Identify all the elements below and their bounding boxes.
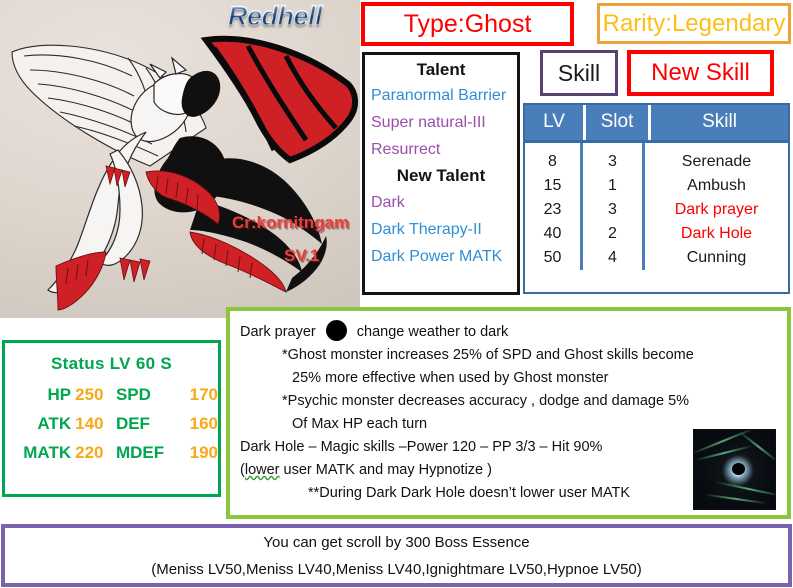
skill-header-label: Skill [558, 60, 600, 87]
skill-table: LV Slot Skill 8 15 23 40 50 3 1 3 2 4 Se… [523, 103, 790, 294]
cell-skill: Cunning [645, 246, 788, 270]
status-value-hp: 250 [75, 380, 116, 409]
status-value-def: 160 [174, 409, 218, 438]
talent-item-dark-power-matk: Dark Power MATK [371, 244, 517, 269]
type-badge-label: Type:Ghost [404, 10, 532, 39]
dark-prayer-bullet-1b: 25% more effective when used by Ghost mo… [240, 367, 779, 390]
paren-word-lower: lower [245, 462, 280, 478]
status-panel: Status LV 60 S HP 250 SPD 170 ATK 140 DE… [2, 340, 221, 497]
cell-lv: 40 [525, 222, 580, 246]
status-label-spd: SPD [116, 380, 174, 409]
new-skill-header-badge: New Skill [627, 50, 774, 96]
column-header-slot: Slot [586, 105, 651, 140]
cell-skill: Serenade [645, 150, 788, 174]
cell-slot: 4 [583, 246, 642, 270]
talent-item-paranormal-barrier: Paranormal Barrier [371, 83, 517, 108]
dark-prayer-line: Dark prayerchange weather to dark [240, 320, 779, 344]
status-value-atk: 140 [75, 409, 116, 438]
monster-artwork: Redhell Cr:kornitngam SV.1 [0, 0, 360, 318]
skill-table-header-row: LV Slot Skill [525, 105, 788, 140]
skill-table-col-skill: Serenade Ambush Dark prayer Dark Hole Cu… [645, 143, 788, 270]
skill-table-col-lv: 8 15 23 40 50 [525, 143, 583, 270]
dark-prayer-bullet-2: *Psychic monster decreases accuracy , do… [240, 390, 779, 413]
cell-lv: 8 [525, 150, 580, 174]
acquisition-note-panel: You can get scroll by 300 Boss Essence (… [1, 524, 792, 587]
cell-lv: 23 [525, 198, 580, 222]
skill-header-badge: Skill [540, 50, 618, 96]
status-value-spd: 170 [174, 380, 218, 409]
note-line-1: You can get scroll by 300 Boss Essence [263, 529, 529, 556]
dark-prayer-bullet-1: *Ghost monster increases 25% of SPD and … [240, 344, 779, 367]
cell-slot: 2 [583, 222, 642, 246]
dark-hole-image [693, 429, 776, 510]
note-line-2: (Meniss LV50,Meniss LV40,Meniss LV40,Ign… [151, 556, 642, 583]
status-row: ATK 140 DEF 160 [5, 409, 218, 438]
monster-info-card: Redhell Cr:kornitngam SV.1 Type:Ghost Ra… [0, 0, 793, 588]
dark-prayer-effect: change weather to dark [357, 324, 509, 340]
column-header-skill: Skill [651, 105, 788, 140]
status-label-atk: ATK [5, 409, 75, 438]
status-row: HP 250 SPD 170 [5, 380, 218, 409]
talent-item-dark-therapy: Dark Therapy-II [371, 217, 517, 242]
skill-table-col-slot: 3 1 3 2 4 [583, 143, 645, 270]
rarity-badge: Rarity:Legendary [597, 3, 791, 44]
artist-credit: Cr:kornitngam [232, 213, 349, 233]
talent-heading: Talent [365, 60, 517, 80]
cell-skill: Dark Hole [645, 222, 788, 246]
talent-item-super-natural: Super natural-III [371, 110, 517, 135]
cell-skill: Dark prayer [645, 198, 788, 222]
status-label-def: DEF [116, 409, 174, 438]
status-label-mdef: MDEF [116, 438, 174, 467]
status-row: MATK 220 MDEF 190 [5, 438, 218, 467]
cell-skill: Ambush [645, 174, 788, 198]
paren-rest: user MATK and may Hypnotize ) [280, 462, 492, 478]
dragon-drawing [0, 0, 360, 318]
status-title: Status LV 60 S [5, 354, 218, 374]
rarity-badge-label: Rarity:Legendary [603, 10, 786, 38]
dark-prayer-name: Dark prayer [240, 324, 316, 340]
new-skill-header-label: New Skill [651, 59, 750, 87]
cell-slot: 1 [583, 174, 642, 198]
column-header-lv: LV [525, 105, 586, 140]
status-label-hp: HP [5, 380, 75, 409]
status-value-matk: 220 [75, 438, 116, 467]
cell-slot: 3 [583, 198, 642, 222]
talent-panel: Talent Paranormal Barrier Super natural-… [362, 52, 520, 295]
new-talent-heading: New Talent [365, 164, 517, 188]
cell-lv: 15 [525, 174, 580, 198]
status-label-matk: MATK [5, 438, 75, 467]
cell-slot: 3 [583, 150, 642, 174]
type-badge: Type:Ghost [361, 2, 574, 46]
talent-item-resurrect: Resurrect [371, 137, 517, 162]
monster-name-title: Redhell [228, 1, 322, 32]
version-label: SV.1 [284, 246, 319, 266]
skill-table-body: 8 15 23 40 50 3 1 3 2 4 Serenade Ambush … [525, 140, 788, 270]
cell-lv: 50 [525, 246, 580, 270]
black-circle-icon [326, 320, 347, 341]
talent-item-dark: Dark [371, 190, 517, 215]
skill-description-panel: Dark prayerchange weather to dark *Ghost… [226, 307, 791, 519]
status-value-mdef: 190 [174, 438, 218, 467]
